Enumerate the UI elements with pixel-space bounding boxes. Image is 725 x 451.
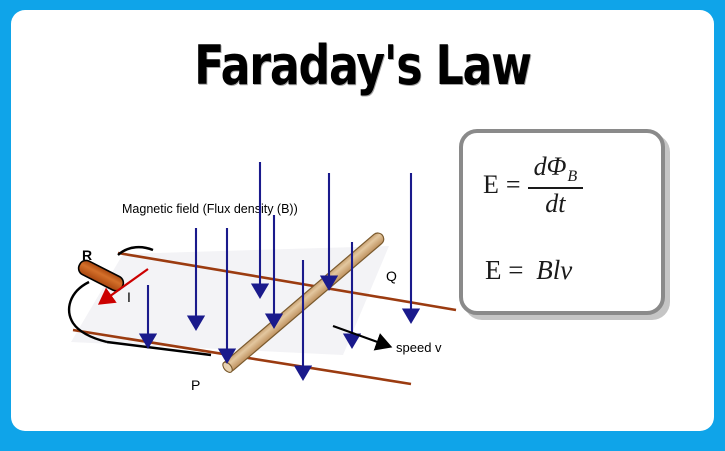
flux-subscript: B [566,168,577,185]
rod-end-p-label: P [191,377,200,393]
formula-box: E = dΦB dt E = Blv [459,129,665,315]
magnetic-field-label: Magnetic field (Flux density (B)) [122,202,298,216]
faraday-emf-formula: E = dΦB dt [483,153,583,217]
derivative-fraction: dΦB dt [528,153,584,217]
flux-symbol: dΦ [534,152,567,181]
resistor-label: R [82,247,92,263]
speed-label: speed v [396,340,442,355]
equals-sign-1: = [506,170,521,200]
fraction-denominator: dt [539,189,571,217]
motional-emf-formula: E = Blv [485,255,572,286]
blv-expression: Blv [530,255,572,285]
emf-symbol: E [483,170,499,200]
emf-symbol-2: E [485,255,502,285]
current-label: I [127,289,131,305]
rod-end-q-label: Q [386,268,397,284]
fraction-numerator: dΦB [528,153,584,187]
outer-frame: Faraday's Law [0,0,725,451]
equals-sign-2: = [508,255,523,285]
content-panel: Faraday's Law [11,10,714,431]
